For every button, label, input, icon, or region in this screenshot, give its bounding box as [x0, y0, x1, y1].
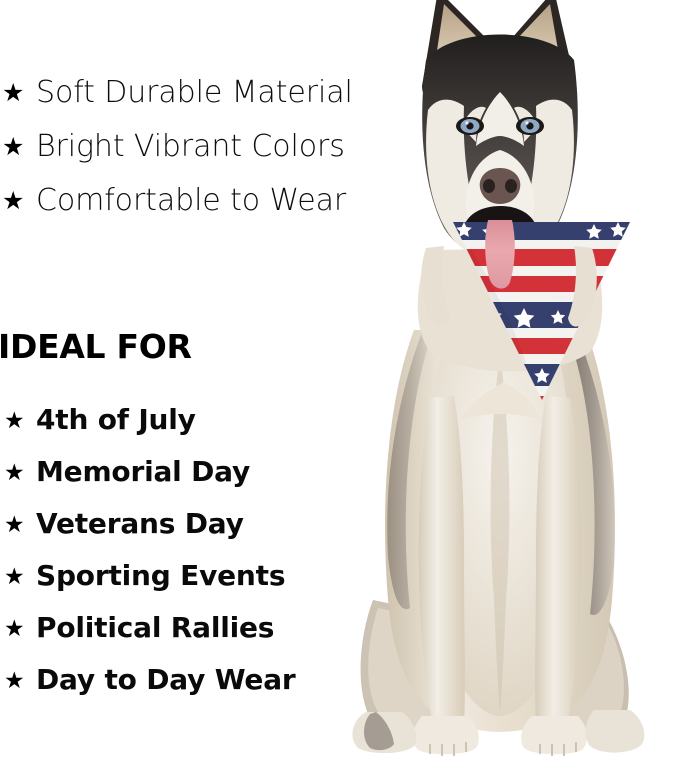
list-item: ★ Veterans Day	[0, 510, 420, 562]
star-bullet-icon: ★	[4, 462, 36, 485]
dog-tongue-overlay	[485, 220, 515, 289]
occasion-label: Veterans Day	[36, 510, 244, 538]
star-bullet-icon: ★	[4, 670, 36, 693]
star-bullet-icon: ★	[4, 514, 36, 537]
occasion-label: Memorial Day	[36, 458, 250, 486]
occasion-label: Sporting Events	[36, 562, 285, 590]
occasion-label: Political Rallies	[36, 614, 274, 642]
occasion-label: Day to Day Wear	[36, 666, 296, 694]
feature-label: Comfortable to Wear	[36, 186, 346, 216]
feature-list: ★ Soft Durable Material ★ Bright Vibrant…	[0, 78, 420, 240]
feature-label: Soft Durable Material	[36, 78, 353, 108]
feature-label: Bright Vibrant Colors	[36, 132, 345, 162]
product-infographic-canvas: ★ Soft Durable Material ★ Bright Vibrant…	[0, 0, 679, 759]
star-bullet-icon: ★	[2, 134, 36, 159]
list-item: ★ Sporting Events	[0, 562, 420, 614]
list-item: ★ Day to Day Wear	[0, 666, 420, 718]
section-heading-ideal-for: IDEAL FOR	[0, 330, 192, 363]
list-item: ★ Soft Durable Material	[0, 78, 420, 132]
list-item: ★ Comfortable to Wear	[0, 186, 420, 240]
star-bullet-icon: ★	[2, 188, 36, 213]
star-bullet-icon: ★	[4, 566, 36, 589]
list-item: ★ Bright Vibrant Colors	[0, 132, 420, 186]
ideal-for-list: ★ 4th of July ★ Memorial Day ★ Veterans …	[0, 406, 420, 718]
list-item: ★ 4th of July	[0, 406, 420, 458]
list-item: ★ Political Rallies	[0, 614, 420, 666]
star-bullet-icon: ★	[2, 80, 36, 105]
star-bullet-icon: ★	[4, 618, 36, 641]
marketing-copy-panel: ★ Soft Durable Material ★ Bright Vibrant…	[0, 0, 420, 759]
occasion-label: 4th of July	[36, 406, 196, 434]
list-item: ★ Memorial Day	[0, 458, 420, 510]
star-bullet-icon: ★	[4, 410, 36, 433]
